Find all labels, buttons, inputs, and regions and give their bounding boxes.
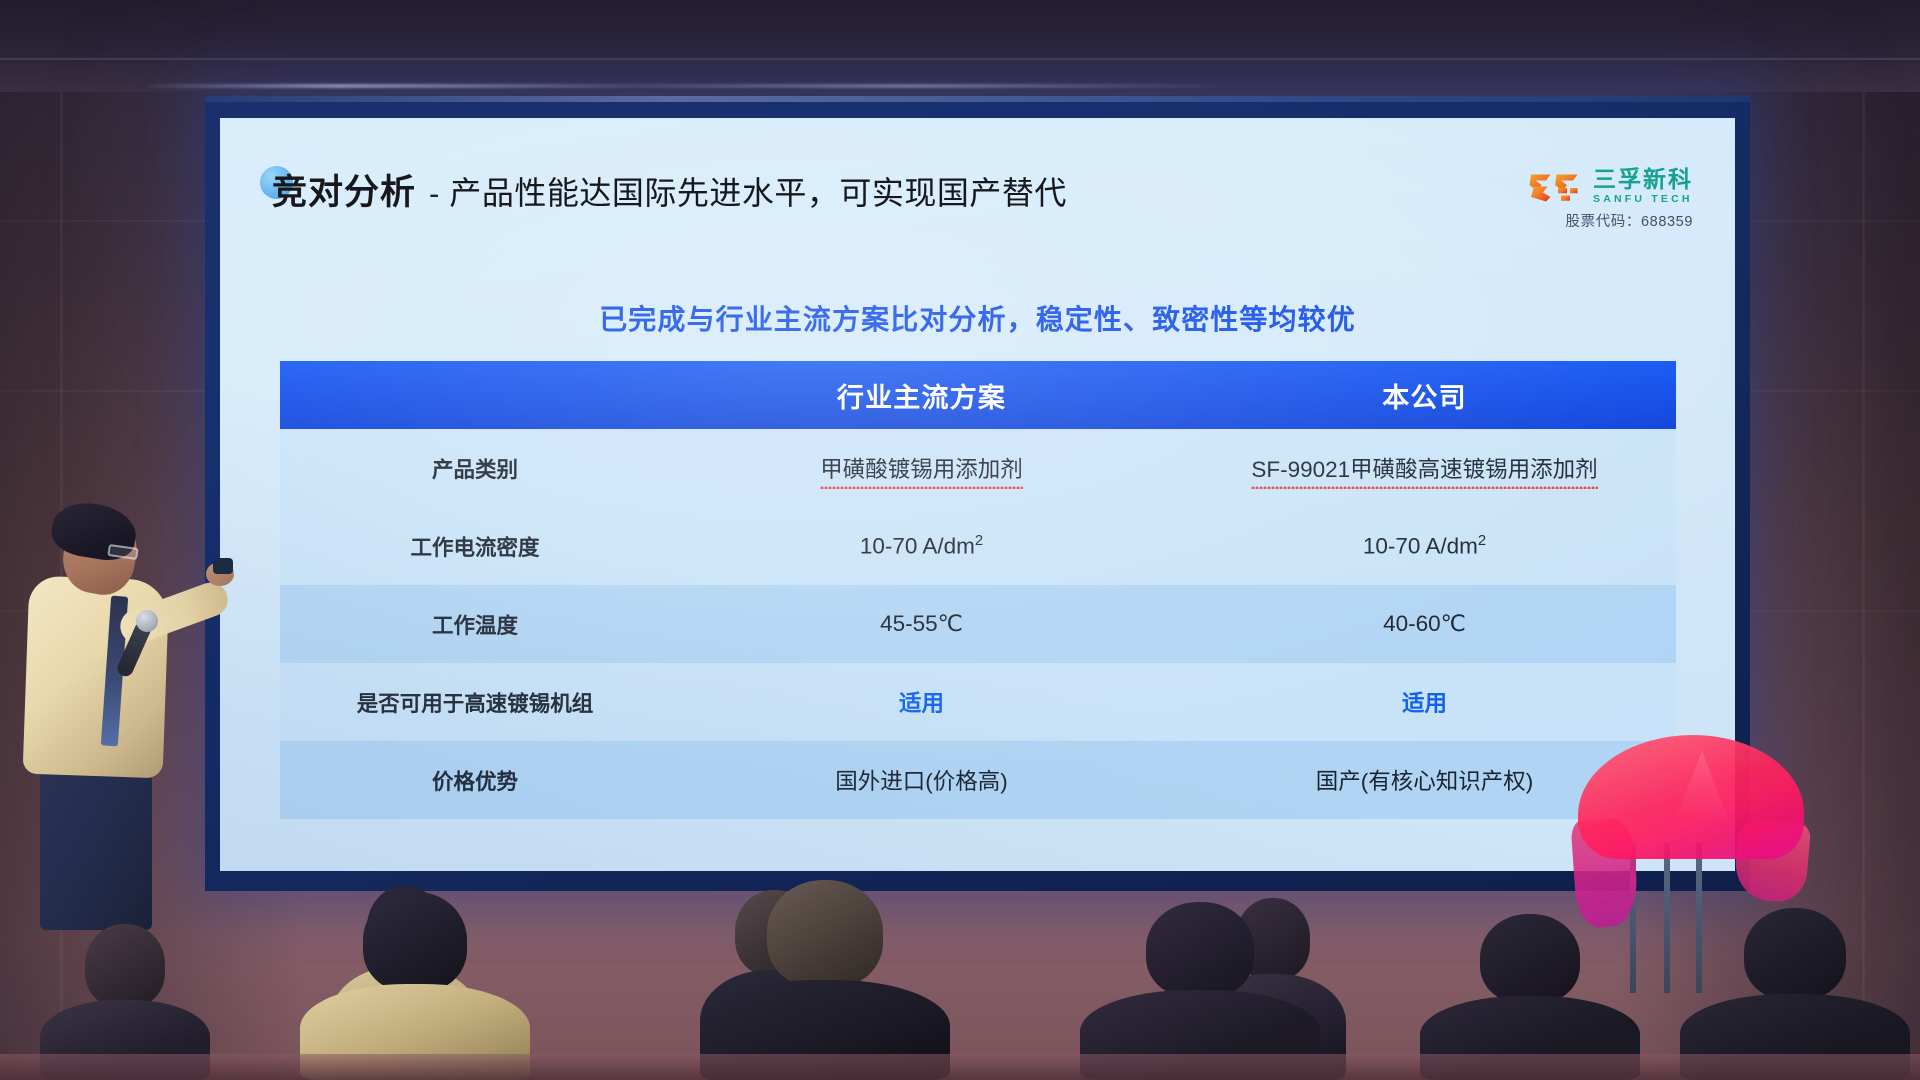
page-title-main: 竞对分析 [272,164,416,215]
table-header-row: 行业主流方案 本公司 [280,361,1676,429]
row-label: 价格优势 [280,765,670,796]
row-value-ours: SF-99021甲磺酸高速镀锡用添加剂 [1173,452,1676,484]
table-row: 是否可用于高速镀锡机组 适用 适用 [280,663,1676,741]
comparison-table: 行业主流方案 本公司 产品类别 甲磺酸镀锡用添加剂 SF-99021甲磺酸高速镀… [280,361,1676,819]
stock-code-label: 股票代码：688359 [1528,210,1693,231]
company-logo: 三孚新科 SANFU TECH 股票代码：688359 [1528,168,1693,231]
row-label: 是否可用于高速镀锡机组 [280,687,670,718]
table-row: 产品类别 甲磺酸镀锡用添加剂 SF-99021甲磺酸高速镀锡用添加剂 [280,429,1676,507]
logo-name-en: SANFU TECH [1593,192,1693,206]
presenter [8,500,248,930]
covered-unveiling-object [1578,735,1814,935]
presentation-slide: 竞对分析 - 产品性能达国际先进水平，可实现国产替代 [220,118,1735,871]
row-value-mainstream: 国外进口(价格高) [670,764,1173,796]
row-label: 工作温度 [280,609,670,640]
page-title: 竞对分析 - 产品性能达国际先进水平，可实现国产替代 [272,164,1067,215]
table-header-cell-mainstream: 行业主流方案 [670,376,1173,415]
row-value-mainstream: 10-70 A/dm2 [670,533,1173,560]
table-row: 价格优势 国外进口(价格高) 国产(有核心知识产权) [280,741,1676,819]
ceiling-band [0,0,1920,92]
presenter-legs [40,768,152,930]
row-value-ours: 适用 [1173,686,1676,718]
row-value-ours: 40-60℃ [1173,611,1676,637]
slide-header: 竞对分析 - 产品性能达国际先进水平，可实现国产替代 [220,164,1735,228]
sf-monogram-icon [1528,170,1582,203]
table-body: 产品类别 甲磺酸镀锡用添加剂 SF-99021甲磺酸高速镀锡用添加剂 工作电流密… [280,429,1676,819]
table-row: 工作温度 45-55℃ 40-60℃ [280,585,1676,663]
ceiling-light-glint [140,84,1240,88]
slide-subtitle: 已完成与行业主流方案比对分析，稳定性、致密性等均较优 [220,298,1735,338]
row-label: 工作电流密度 [280,531,670,562]
table-header-cell-ours: 本公司 [1173,376,1676,415]
row-label: 产品类别 [280,453,670,484]
presenter-clicker [213,558,233,574]
page-title-sub: 产品性能达国际先进水平，可实现国产替代 [449,168,1067,214]
row-value-mainstream: 适用 [670,686,1173,718]
row-value-mainstream: 甲磺酸镀锡用添加剂 [670,452,1173,484]
led-screen-frame: 竞对分析 - 产品性能达国际先进水平，可实现国产替代 [205,96,1750,891]
drape-cloth [1578,735,1804,859]
table-row: 工作电流密度 10-70 A/dm2 10-70 A/dm2 [280,507,1676,585]
logo-name-cn: 三孚新科 [1593,168,1693,192]
title-separator: - [429,176,439,212]
conference-room-scene: 竞对分析 - 产品性能达国际先进水平，可实现国产替代 [0,0,1920,1080]
row-value-ours: 10-70 A/dm2 [1173,533,1676,560]
row-value-mainstream: 45-55℃ [670,611,1173,637]
microphone-head [136,610,158,632]
